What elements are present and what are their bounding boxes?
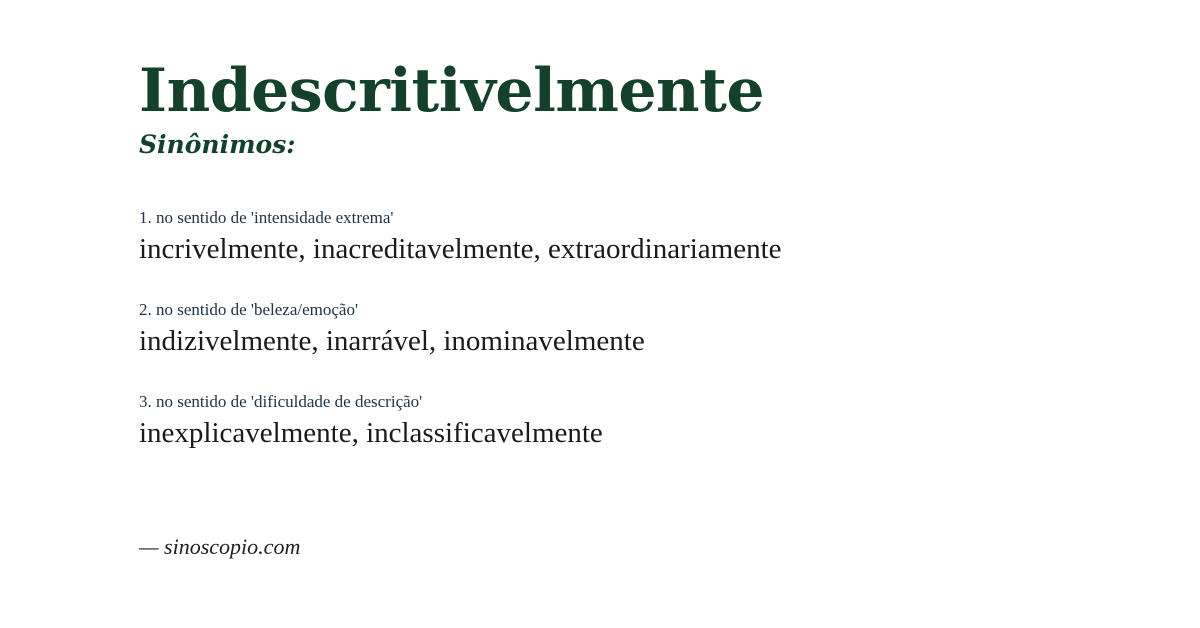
sense-label: 3. no sentido de 'dificuldade de descriç… <box>139 391 1200 413</box>
subtitle-synonyms-label: Sinônimos: <box>139 130 1200 160</box>
list-item: 2. no sentido de 'beleza/emoção' indiziv… <box>139 299 1200 360</box>
synonym-card: Indescritivelmente Sinônimos: 1. no sent… <box>0 0 1200 628</box>
card-header: Indescritivelmente Sinônimos: <box>139 0 1200 160</box>
list-item: 3. no sentido de 'dificuldade de descriç… <box>139 391 1200 452</box>
senses-list: 1. no sentido de 'intensidade extrema' i… <box>139 207 1200 452</box>
sense-label: 2. no sentido de 'beleza/emoção' <box>139 299 1200 321</box>
sense-label: 1. no sentido de 'intensidade extrema' <box>139 207 1200 229</box>
page-title: Indescritivelmente <box>139 58 1200 124</box>
source-attribution: — sinoscopio.com <box>139 533 300 561</box>
sense-synonyms: incrivelmente, inacreditavelmente, extra… <box>139 231 1200 268</box>
sense-synonyms: inexplicavelmente, inclassificavelmente <box>139 415 1200 452</box>
sense-synonyms: indizivelmente, inarrável, inominavelmen… <box>139 323 1200 360</box>
card-footer: — sinoscopio.com <box>139 533 300 561</box>
list-item: 1. no sentido de 'intensidade extrema' i… <box>139 207 1200 268</box>
